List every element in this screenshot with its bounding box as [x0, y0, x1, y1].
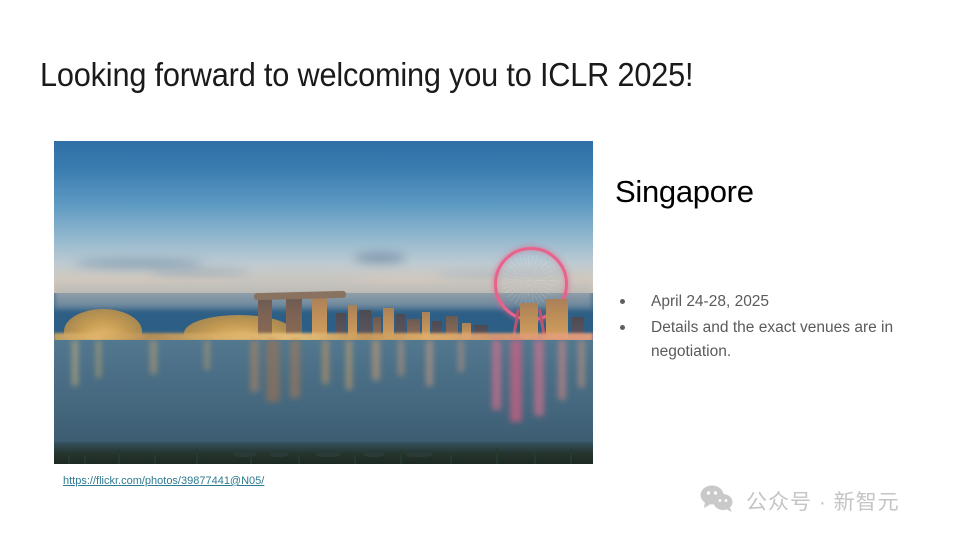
watermark-label: 公众号 · 新智元 [746, 486, 900, 516]
page-title: Looking forward to welcoming you to ICLR… [40, 56, 693, 94]
details-bullet-list: April 24-28, 2025 Details and the exact … [620, 290, 920, 366]
grass-blade [400, 450, 402, 464]
city-skyline [54, 289, 593, 339]
watermark: 公众号 · 新智元 [700, 484, 900, 517]
grass-blade [496, 448, 498, 464]
grass-blade [250, 453, 252, 464]
grass-blade [84, 455, 86, 464]
light-reflection [346, 340, 352, 390]
list-item: Details and the exact venues are in nego… [620, 316, 920, 364]
grass-foreground [54, 442, 593, 464]
light-reflection [398, 340, 404, 376]
cloud-streak [74, 259, 204, 268]
list-item: April 24-28, 2025 [620, 290, 920, 314]
grass-blade [354, 454, 356, 464]
shore-rock [406, 452, 432, 457]
light-reflection [372, 340, 380, 380]
singapore-skyline-photo [54, 141, 593, 464]
light-reflection [578, 340, 585, 388]
grass-blade [196, 449, 198, 464]
shore-rock [316, 452, 340, 457]
light-reflection [322, 340, 329, 384]
grass-blade [570, 449, 572, 464]
grass-blade [450, 452, 452, 464]
light-reflection [426, 340, 433, 386]
list-item-label: Details and the exact venues are in nego… [651, 316, 920, 364]
bullet-dot-icon [620, 325, 625, 330]
light-reflection [204, 340, 210, 370]
light-reflection [250, 340, 259, 392]
light-reflection [72, 340, 78, 386]
cloud-streak [149, 269, 249, 276]
shore-rock [270, 452, 288, 457]
location-heading: Singapore [615, 174, 754, 210]
light-reflection [290, 340, 300, 398]
grass-blade [68, 451, 70, 464]
grass-blade [534, 451, 536, 464]
wechat-icon [700, 484, 734, 517]
light-reflection [558, 340, 566, 400]
shore-rock [234, 452, 256, 457]
light-reflection [96, 340, 101, 378]
light-reflection [534, 340, 544, 416]
bullet-dot-icon [620, 299, 625, 304]
grass-blade [118, 450, 120, 464]
marina-bay-sands-skypark [254, 291, 346, 300]
shore-rock [364, 452, 384, 457]
light-reflection [458, 340, 464, 372]
photo-credit-link[interactable]: https://flickr.com/photos/39877441@N05/ [63, 475, 264, 487]
grass-blade [154, 454, 156, 464]
light-reflection [510, 340, 522, 422]
cloud-streak [354, 253, 406, 263]
list-item-label: April 24-28, 2025 [651, 290, 769, 314]
light-reflection [150, 340, 157, 374]
grass-blade [298, 451, 300, 464]
light-reflection [492, 340, 501, 410]
light-reflection [266, 340, 280, 402]
